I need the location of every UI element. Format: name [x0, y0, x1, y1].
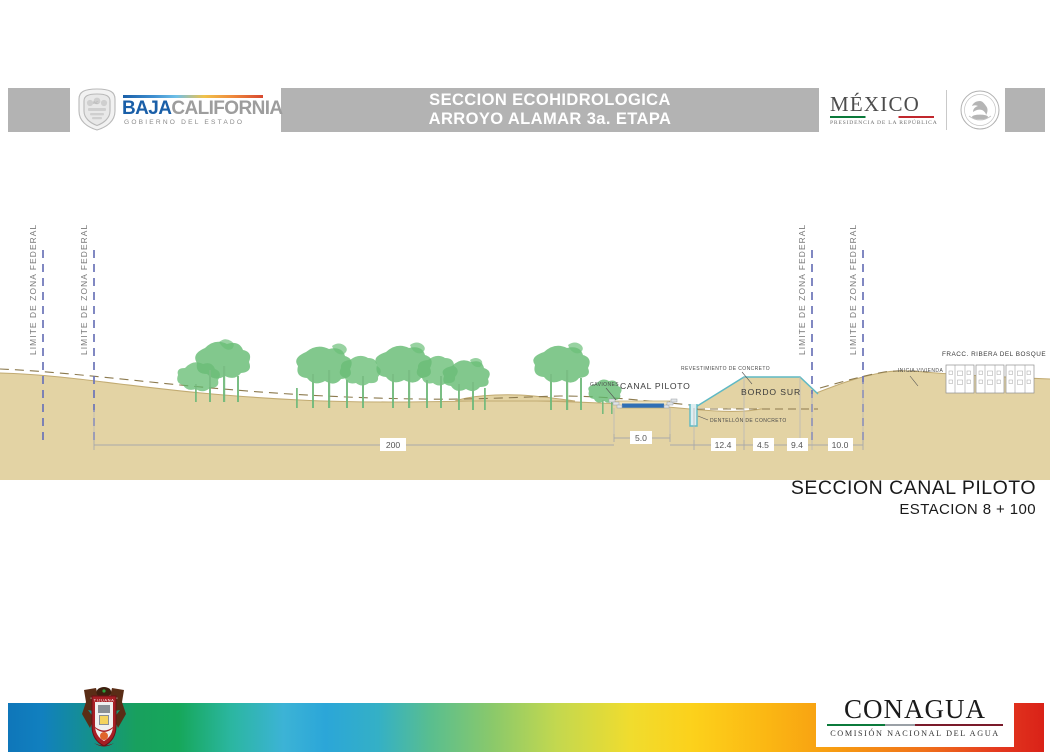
- baja-california-wordmark: BAJACALIFORNIA: [122, 98, 283, 120]
- bordo-sur-label: BORDO SUR: [741, 387, 801, 397]
- dentellon-label: DENTELLÓN DE CONCRETO: [710, 417, 787, 424]
- section-station: ESTACION 8 + 100: [899, 501, 1036, 518]
- dimension-value: 4.5: [757, 440, 769, 450]
- tijuana-city-seal-icon: TIJUANA: [78, 684, 130, 750]
- dimension-value: 12.4: [715, 440, 732, 450]
- canal-piloto-label: CANAL PILOTO: [620, 381, 691, 391]
- header-title: SECCION ECOHIDROLOGICA ARROYO ALAMAR 3a.…: [281, 88, 819, 132]
- footer-right-margin: [1044, 703, 1050, 752]
- mexico-logo: MÉXICO PRESIDENCIA DE LA REPÚBLICA: [830, 88, 1000, 132]
- header-title-line1: SECCION ECOHIDROLOGICA: [429, 91, 671, 110]
- canal-water: [622, 404, 664, 408]
- building: [976, 365, 1004, 393]
- footer-banner: TIJUANA CONAGUA COMISIÓN NACIONAL DEL AG…: [0, 703, 1050, 752]
- header-title-line2: ARROYO ALAMAR 3a. ETAPA: [429, 110, 672, 129]
- drawing-sheet: SECCION ECOHIDROLOGICA ARROYO ALAMAR 3a.…: [0, 0, 1050, 752]
- federal-zone-label: LIMITE DE ZONA FEDERAL: [797, 224, 807, 355]
- dentellon-de-concreto: [690, 404, 697, 426]
- baja-word: BAJA: [122, 98, 171, 119]
- dimension-value: 10.0: [832, 440, 849, 450]
- revestimiento-label: REVESTIMIENTO DE CONCRETO: [681, 366, 770, 372]
- cross-section-drawing: LIMITE DE ZONA FEDERAL LIMITE DE ZONA FE…: [0, 150, 1050, 480]
- baja-california-logo: BC BAJACALIFORNIA GOBIERNO DEL ESTADO: [76, 86, 266, 132]
- svg-text:BC: BC: [93, 100, 99, 105]
- mexico-wordmark: MÉXICO: [830, 92, 920, 117]
- terrain-fill: [0, 371, 1050, 480]
- conagua-logo: CONAGUA COMISIÓN NACIONAL DEL AGUA: [816, 685, 1014, 747]
- california-word: CALIFORNIA: [171, 98, 282, 119]
- dimension-value: 200: [386, 440, 401, 450]
- conagua-rule: [827, 724, 1003, 726]
- federal-zone-label: LIMITE DE ZONA FEDERAL: [848, 224, 858, 355]
- logo-divider: [946, 90, 947, 130]
- tree-cluster: [296, 344, 381, 409]
- footer-left-margin: [0, 703, 8, 752]
- baja-california-shield-icon: BC: [76, 87, 118, 131]
- building: [946, 365, 974, 393]
- baja-california-subtitle: GOBIERNO DEL ESTADO: [124, 119, 244, 126]
- header-left-gray-block: [8, 88, 70, 132]
- federal-zone-label: LIMITE DE ZONA FEDERAL: [28, 224, 38, 355]
- dimension-value: 9.4: [791, 440, 803, 450]
- svg-text:TIJUANA: TIJUANA: [94, 697, 115, 702]
- conagua-subtitle: COMISIÓN NACIONAL DEL AGUA: [830, 729, 999, 738]
- conagua-wordmark: CONAGUA: [844, 695, 986, 723]
- dimension-value: 5.0: [635, 433, 647, 443]
- cross-section-svg: LIMITE DE ZONA FEDERAL LIMITE DE ZONA FE…: [0, 150, 1050, 480]
- mexico-subtitle: PRESIDENCIA DE LA REPÚBLICA: [830, 120, 938, 126]
- building: [1006, 365, 1034, 393]
- buildings-group: [946, 365, 1034, 393]
- inicia-vivienda-label: INICIA VIVIENDA: [898, 368, 943, 374]
- mexico-national-seal-icon: [960, 90, 1000, 130]
- header-right-gray-block: [1005, 88, 1045, 132]
- gaviones-label: GAVIONES: [590, 382, 619, 388]
- section-title: SECCION CANAL PILOTO: [791, 477, 1036, 500]
- fraccionamiento-label: FRACC. RIBERA DEL BOSQUE: [942, 351, 1046, 358]
- mexico-flag-rule: [830, 116, 934, 118]
- federal-zone-label: LIMITE DE ZONA FEDERAL: [79, 224, 89, 355]
